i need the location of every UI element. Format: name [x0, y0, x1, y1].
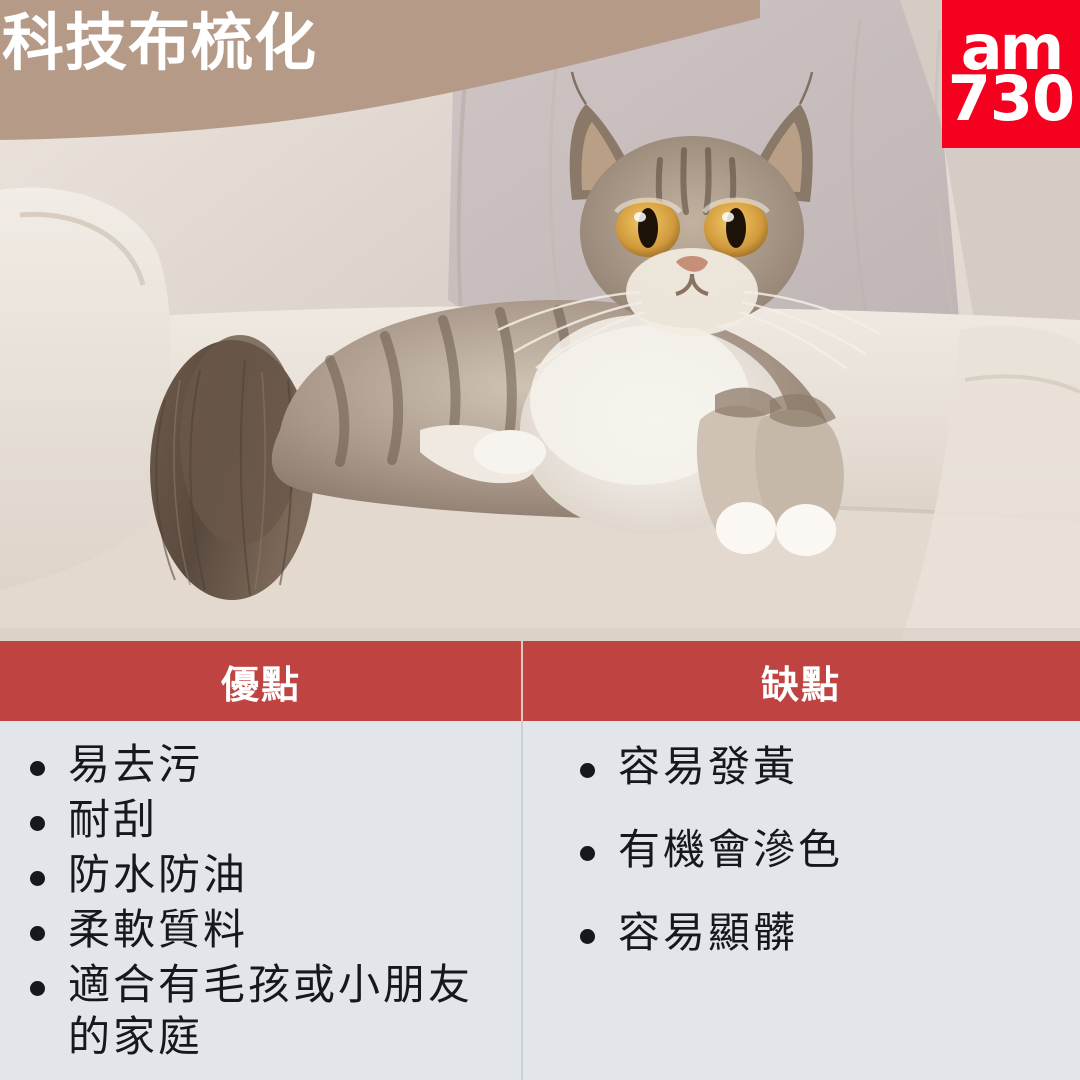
pros-list: 易去污 耐刮 防水防油 柔軟質料 適合有毛孩或小朋友的家庭 [22, 739, 508, 1063]
bullet-icon [580, 929, 595, 944]
list-item: 耐刮 [22, 794, 508, 846]
bullet-icon [580, 846, 595, 861]
hero-photo: 科技布梳化 [0, 0, 1080, 642]
list-item: 有機會滲色 [572, 824, 1066, 875]
bullet-icon [30, 761, 45, 776]
pros-column: 易去污 耐刮 防水防油 柔軟質料 適合有毛孩或小朋友的家庭 [0, 721, 522, 1080]
bullet-icon [580, 763, 595, 778]
bullet-icon [30, 981, 45, 996]
list-item-label: 有機會滲色 [618, 826, 843, 873]
cons-list: 容易發黃 有機會滲色 容易顯髒 [572, 741, 1066, 959]
list-item: 適合有毛孩或小朋友的家庭 [22, 959, 508, 1063]
cat-front-paws [697, 388, 844, 556]
cons-column: 容易發黃 有機會滲色 容易顯髒 [522, 721, 1080, 1080]
list-item: 防水防油 [22, 849, 508, 901]
am730-logo[interactable]: am 730 [942, 0, 1080, 148]
cat-on-sofa-illustration [0, 0, 1080, 642]
list-item-label: 柔軟質料 [68, 906, 248, 953]
bullet-icon [30, 871, 45, 886]
bullet-icon [30, 816, 45, 831]
bullet-icon [30, 926, 45, 941]
list-item-label: 容易發黃 [618, 743, 798, 790]
list-item-label: 容易顯髒 [618, 909, 798, 956]
list-item: 柔軟質料 [22, 904, 508, 956]
logo-line-730: 730 [948, 74, 1074, 125]
header-divider [521, 641, 523, 721]
comparison-table-header: 優點 缺點 [0, 641, 1080, 721]
list-item: 容易顯髒 [572, 907, 1066, 958]
list-item-label: 適合有毛孩或小朋友的家庭 [68, 961, 473, 1060]
list-item: 易去污 [22, 739, 508, 791]
column-header-cons: 缺點 [522, 641, 1080, 721]
list-item-label: 耐刮 [68, 796, 158, 843]
infographic-card: 科技布梳化 am 730 優點 缺點 易去污 耐刮 防水防油 柔軟質料 適合有毛… [0, 0, 1080, 1080]
column-divider [521, 721, 523, 1080]
list-item-label: 防水防油 [68, 851, 248, 898]
column-header-pros: 優點 [0, 641, 522, 721]
comparison-table-body: 易去污 耐刮 防水防油 柔軟質料 適合有毛孩或小朋友的家庭 容易發黃 有機會滲色… [0, 721, 1080, 1080]
list-item-label: 易去污 [68, 741, 203, 788]
list-item: 容易發黃 [572, 741, 1066, 792]
